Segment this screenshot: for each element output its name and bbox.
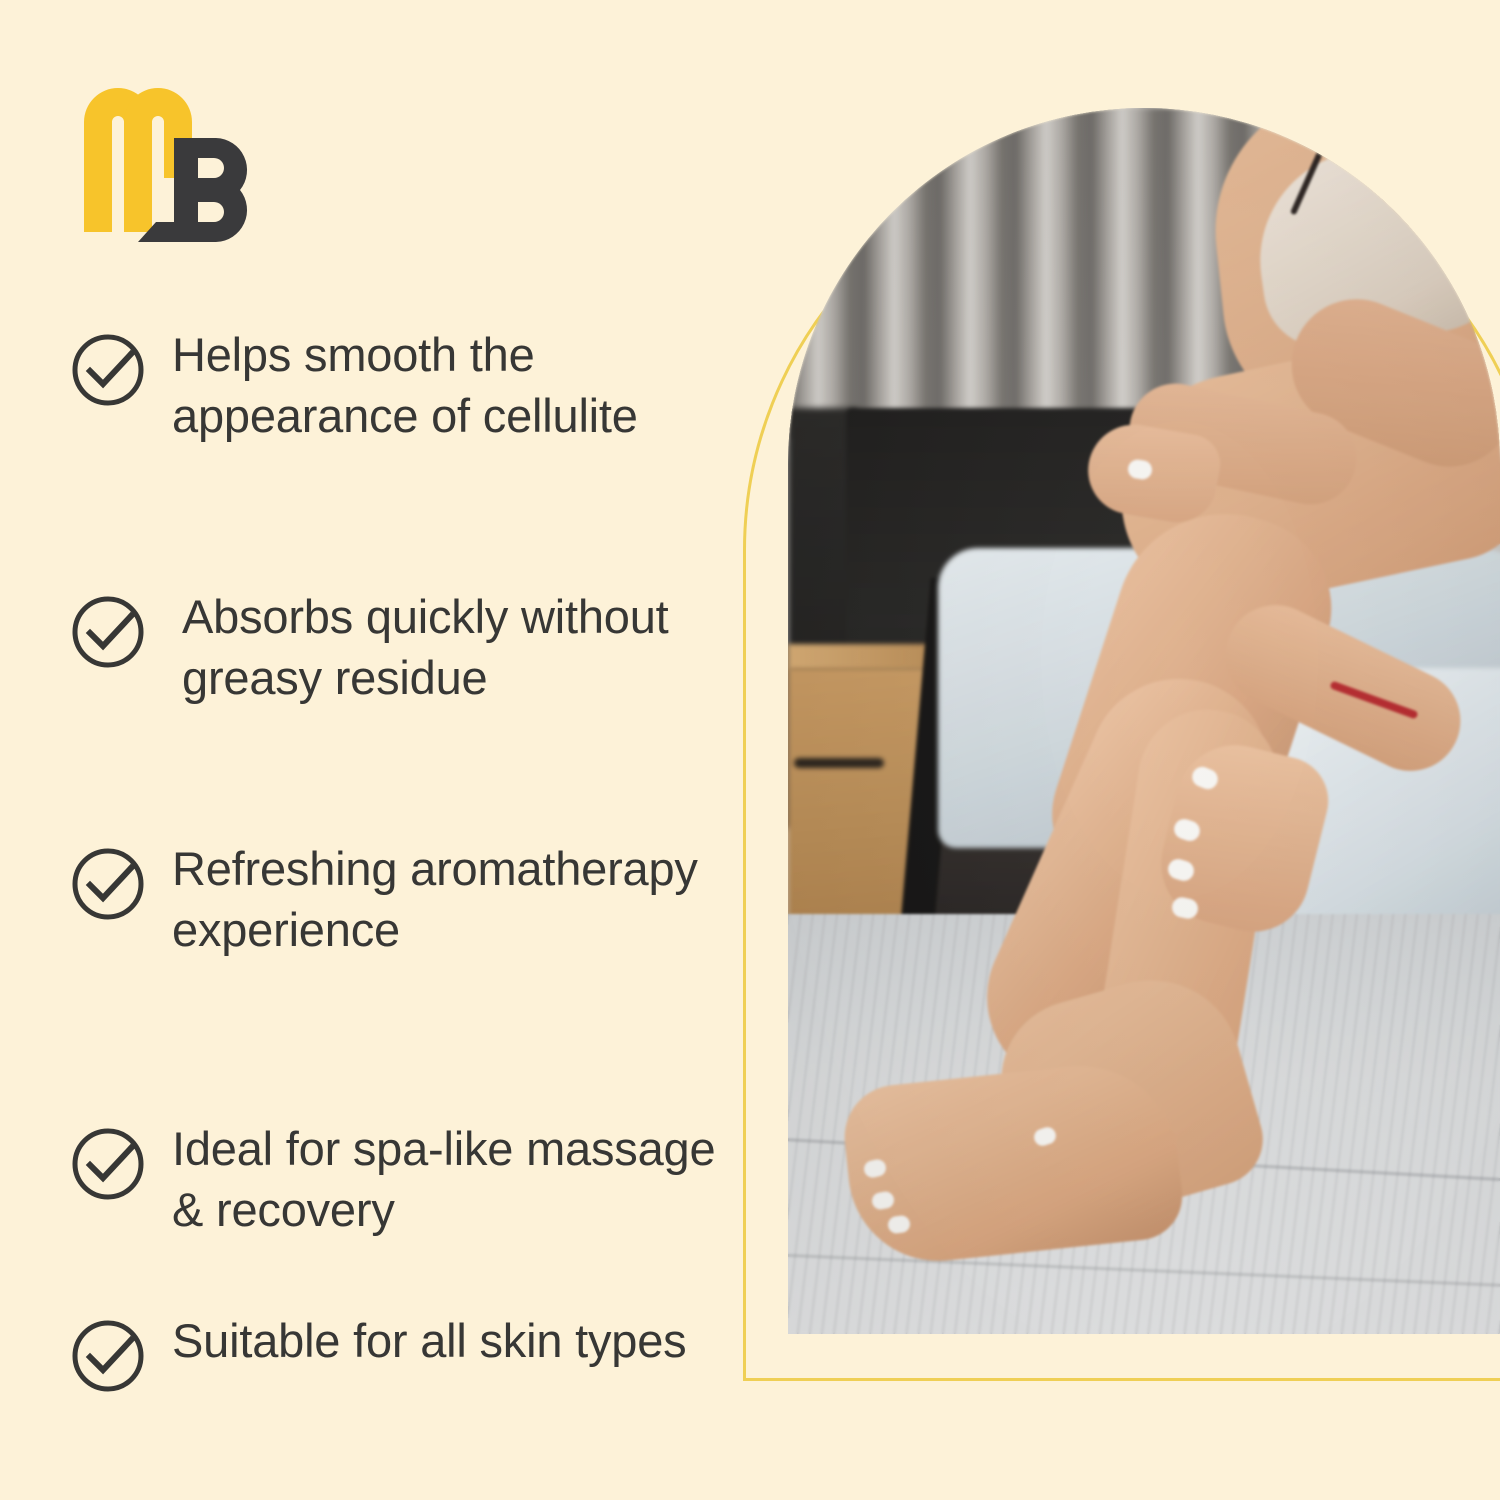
- model-foot-front: [839, 1056, 1186, 1270]
- benefit-item: Absorbs quickly without greasy residue: [70, 586, 740, 708]
- check-circle-icon: [70, 332, 146, 408]
- check-circle-icon: [70, 594, 146, 670]
- benefit-item: Ideal for spa-like massage & recovery: [70, 1118, 740, 1240]
- infographic-canvas: Helps smooth the appearance of cellulite…: [0, 0, 1500, 1500]
- check-circle-icon: [70, 1318, 146, 1394]
- lifestyle-photo-frame: [788, 108, 1500, 1334]
- benefit-label: Refreshing aromatherapy experience: [172, 838, 740, 960]
- photo-zone: [700, 0, 1500, 1500]
- benefit-item: Helps smooth the appearance of cellulite: [70, 324, 740, 446]
- benefit-label: Ideal for spa-like massage & recovery: [172, 1118, 740, 1240]
- benefit-item: Suitable for all skin types: [70, 1310, 686, 1394]
- benefit-label: Suitable for all skin types: [172, 1310, 686, 1371]
- left-content-column: Helps smooth the appearance of cellulite…: [0, 0, 740, 1500]
- benefit-label: Helps smooth the appearance of cellulite: [172, 324, 740, 446]
- nightstand-top: [788, 644, 938, 670]
- benefit-item: Refreshing aromatherapy experience: [70, 838, 740, 960]
- mb-monogram-logo: [78, 82, 258, 252]
- benefit-label: Absorbs quickly without greasy residue: [172, 586, 740, 708]
- lifestyle-photo-woman-legs-bedroom: [788, 108, 1500, 1334]
- check-circle-icon: [70, 1126, 146, 1202]
- check-circle-icon: [70, 846, 146, 922]
